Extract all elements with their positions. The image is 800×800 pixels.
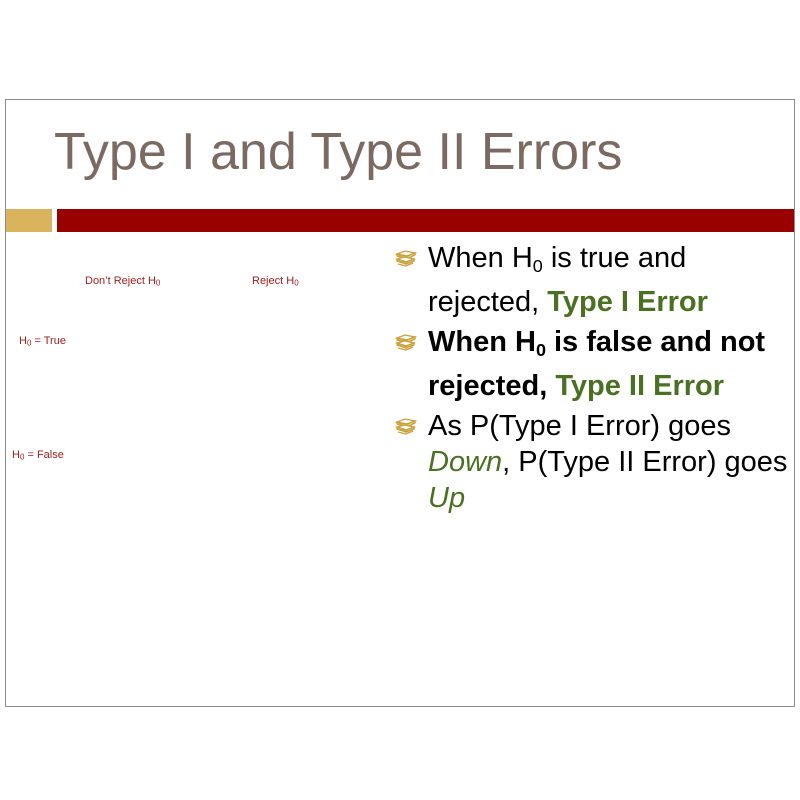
matrix-column-header-reject-subscript: 0 xyxy=(294,278,298,287)
bullet-2-highlight-type-ii-error: Type II Error xyxy=(555,370,724,402)
bullet-1-highlight-type-i-error: Type I Error xyxy=(547,286,708,318)
stacked-books-icon xyxy=(394,248,418,270)
matrix-column-header-dont-reject-label: Don’t Reject H xyxy=(85,275,156,287)
matrix-row-header-h0-true: H0 = True xyxy=(19,335,66,347)
matrix-row-header-h0-true-label: H xyxy=(19,335,27,347)
bullet-3-segment-1: As P(Type I Error) goes xyxy=(428,410,731,442)
matrix-row-header-h0-true-rest: = True xyxy=(31,335,66,347)
slide-title-placeholder[interactable]: Type I and Type II Errors xyxy=(6,100,794,204)
matrix-column-header-reject-label: Reject H xyxy=(252,275,294,287)
list-item: As P(Type I Error) goes Down, P(Type II … xyxy=(392,408,792,516)
bullet-3-highlight-down: Down xyxy=(428,446,502,478)
slide-canvas: Type I and Type II Errors Don’t Reject H… xyxy=(5,99,795,707)
decision-matrix: Don’t Reject H0 Reject H0 H0 = True H0 =… xyxy=(6,240,386,660)
bullet-2-subscript: 0 xyxy=(536,340,546,360)
content-placeholder[interactable]: When H0 is true and rejected, Type I Err… xyxy=(392,240,792,700)
page-title: Type I and Type II Errors xyxy=(54,122,622,182)
list-item-text: As P(Type I Error) goes Down, P(Type II … xyxy=(428,408,792,516)
matrix-column-header-dont-reject-subscript: 0 xyxy=(156,278,160,287)
matrix-column-header-reject: Reject H0 xyxy=(252,275,299,287)
red-accent-bar xyxy=(57,209,795,232)
list-item: When H0 is true and rejected, Type I Err… xyxy=(392,240,792,320)
matrix-column-header-dont-reject: Don’t Reject H0 xyxy=(85,275,160,287)
bullet-2-segment-1: When H xyxy=(428,326,536,358)
bullet-1-subscript: 0 xyxy=(533,256,543,276)
matrix-row-header-h0-false-rest: = False xyxy=(24,449,63,461)
stacked-books-icon xyxy=(394,332,418,354)
list-item-text: When H0 is true and rejected, Type I Err… xyxy=(428,240,792,320)
accent-bar-row xyxy=(6,209,794,233)
list-item: When H0 is false and not rejected, Type … xyxy=(392,324,792,404)
matrix-row-header-h0-false: H0 = False xyxy=(12,449,64,461)
gold-accent-bar xyxy=(6,209,52,232)
list-item-text: When H0 is false and not rejected, Type … xyxy=(428,324,792,404)
bullet-3-highlight-up: Up xyxy=(428,482,465,514)
matrix-row-header-h0-false-label: H xyxy=(12,449,20,461)
bullet-1-segment-1: When H xyxy=(428,242,533,274)
stacked-books-icon xyxy=(394,416,418,438)
bullet-3-segment-2: , P(Type II Error) goes xyxy=(502,446,787,478)
